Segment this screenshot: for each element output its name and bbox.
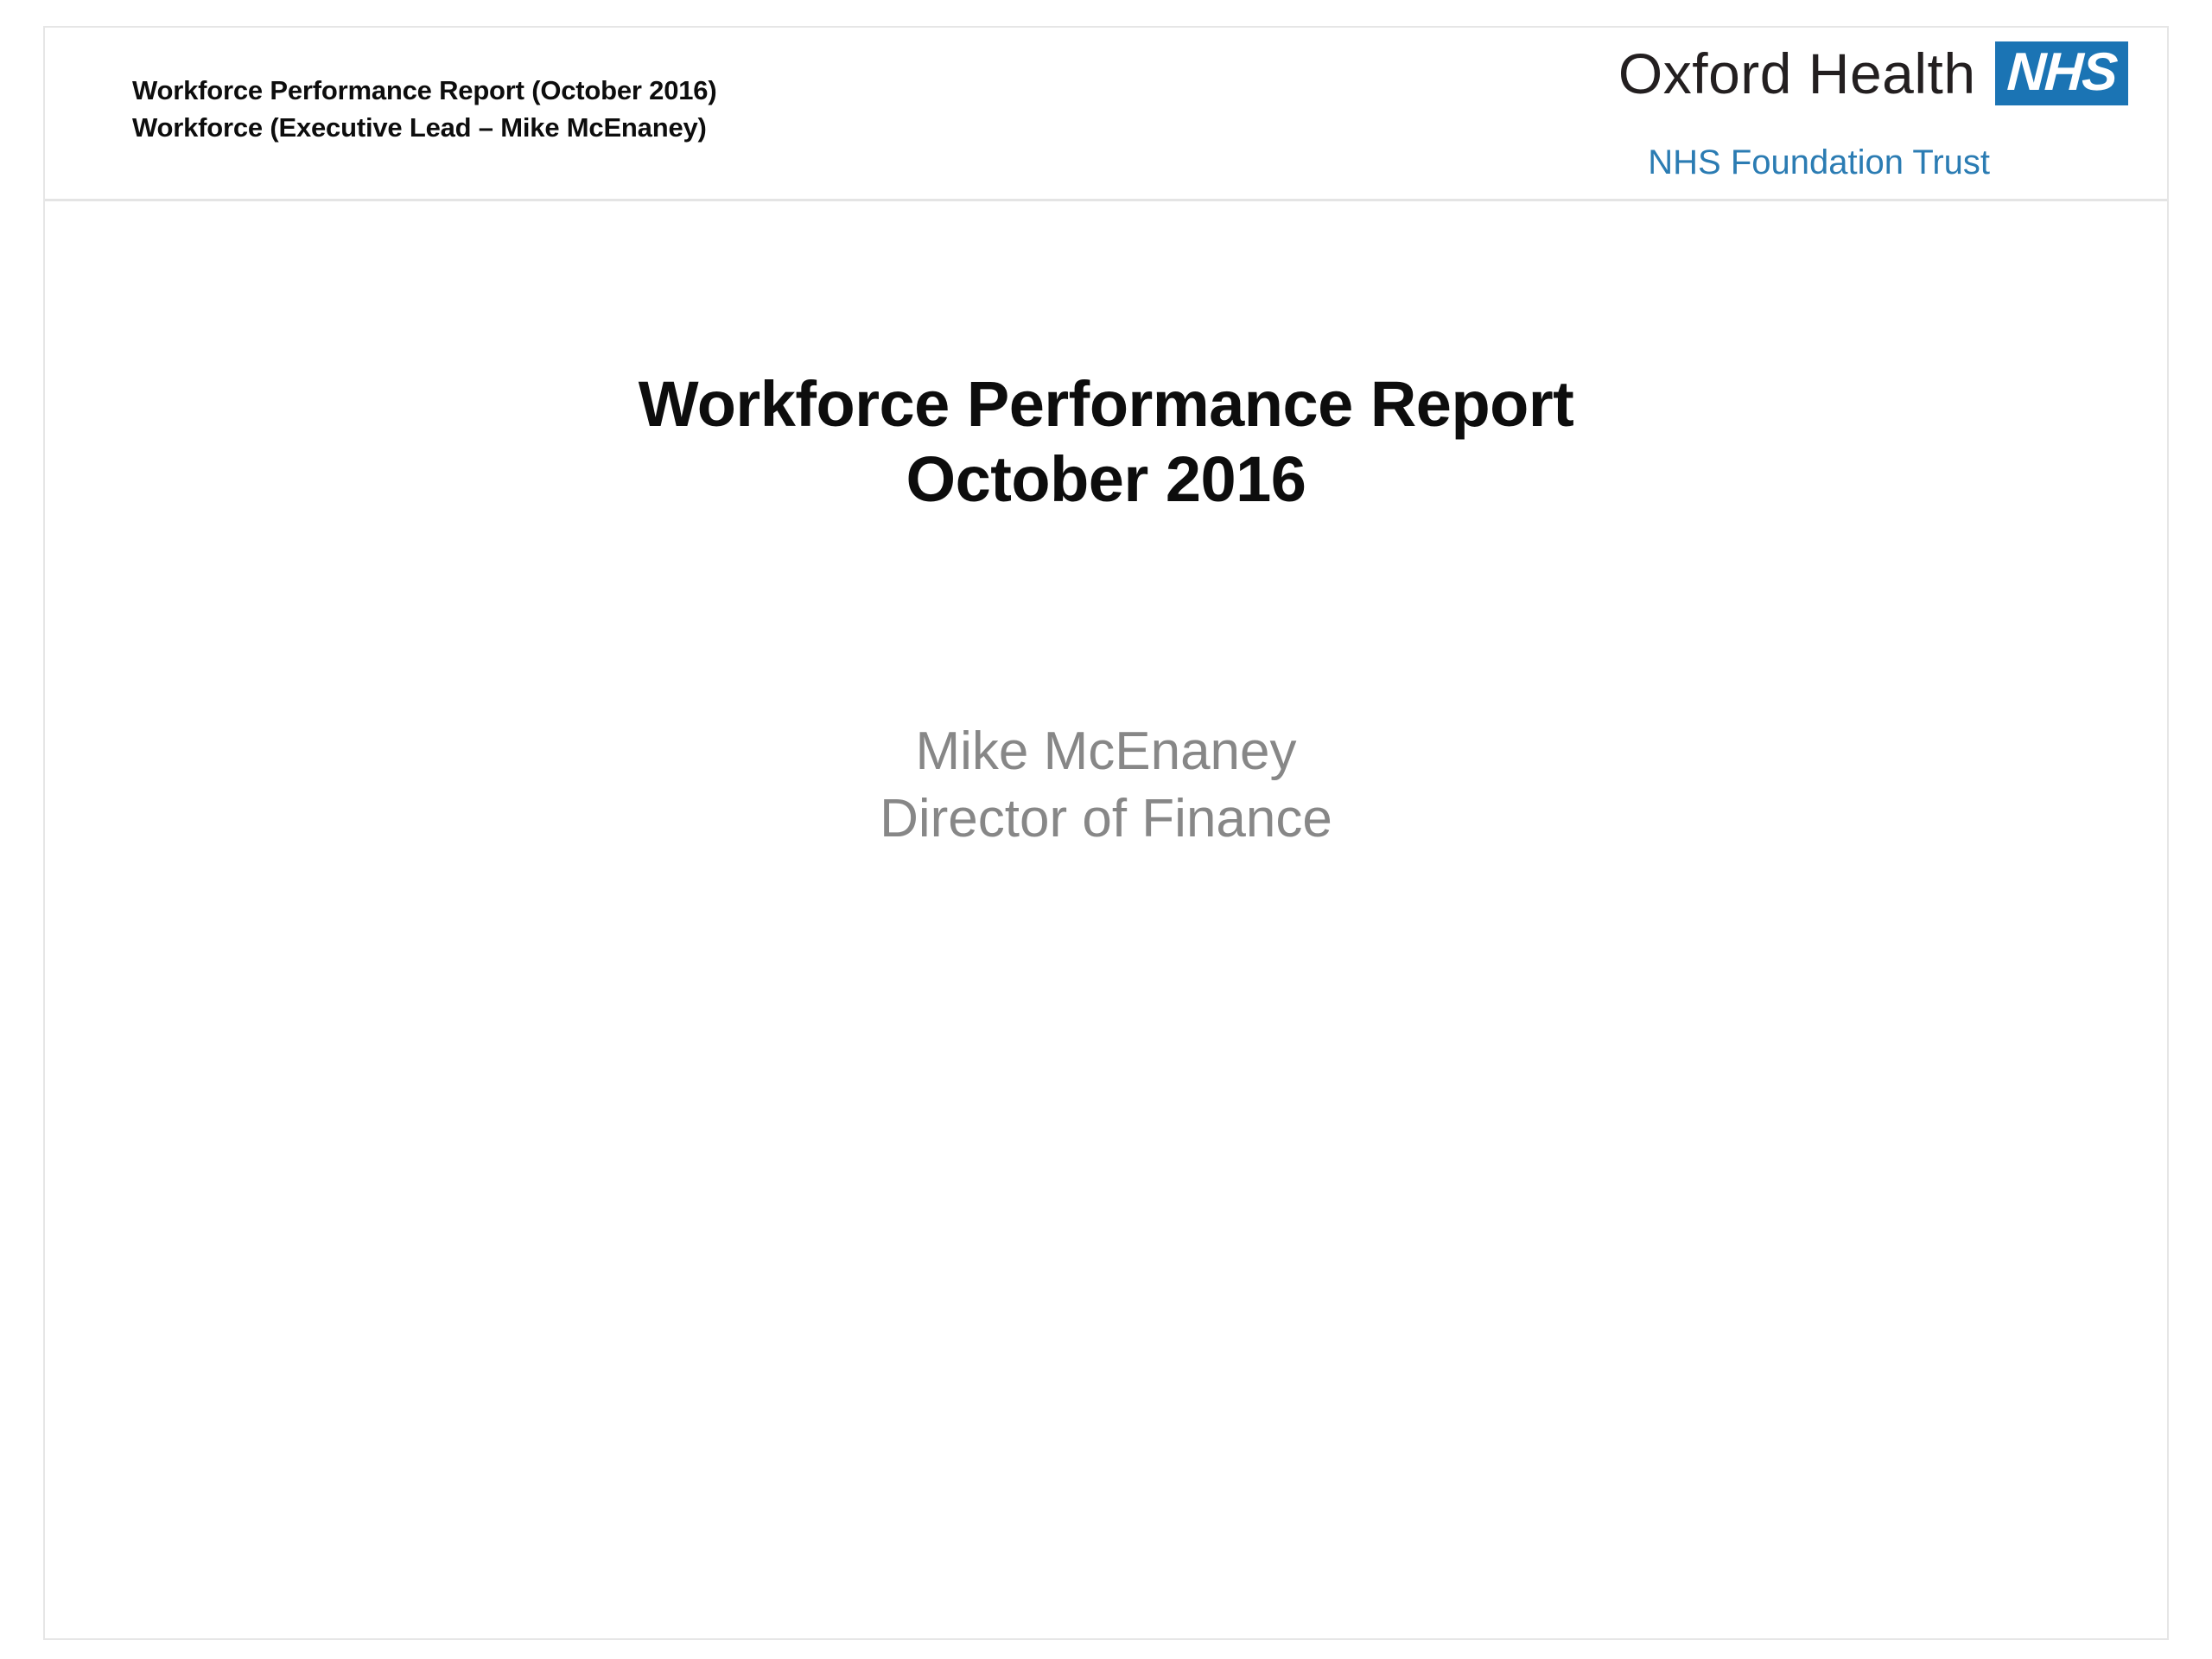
- header-report-title: Workforce Performance Report (October 20…: [132, 73, 716, 110]
- nhs-logo-box: NHS: [1995, 41, 2128, 105]
- logo-top-row: Oxford Health NHS: [1618, 41, 2128, 105]
- author-name: Mike McEnaney: [45, 718, 2167, 785]
- slide-header: Workforce Performance Report (October 20…: [45, 28, 2167, 201]
- nhs-foundation-trust-label: NHS Foundation Trust: [1648, 145, 1990, 180]
- slide-author-block: Mike McEnaney Director of Finance: [45, 718, 2167, 852]
- header-executive-lead: Workforce (Executive Lead – Mike McEnane…: [132, 110, 716, 147]
- oxford-health-wordmark: Oxford Health: [1618, 45, 1976, 102]
- slide-title-line-2: October 2016: [45, 442, 2167, 518]
- slide-body: Workforce Performance Report October 201…: [45, 201, 2167, 1638]
- slide-title-line-1: Workforce Performance Report: [45, 367, 2167, 442]
- slide-canvas: Workforce Performance Report (October 20…: [0, 0, 2212, 1659]
- presentation-slide: Workforce Performance Report (October 20…: [43, 26, 2169, 1640]
- slide-title-block: Workforce Performance Report October 201…: [45, 367, 2167, 517]
- header-title-block: Workforce Performance Report (October 20…: [132, 73, 716, 147]
- author-role: Director of Finance: [45, 785, 2167, 853]
- nhs-logo-text: NHS: [2005, 46, 2118, 99]
- oxford-health-nhs-logo: Oxford Health NHS NHS Foundation Trust: [1471, 41, 2128, 188]
